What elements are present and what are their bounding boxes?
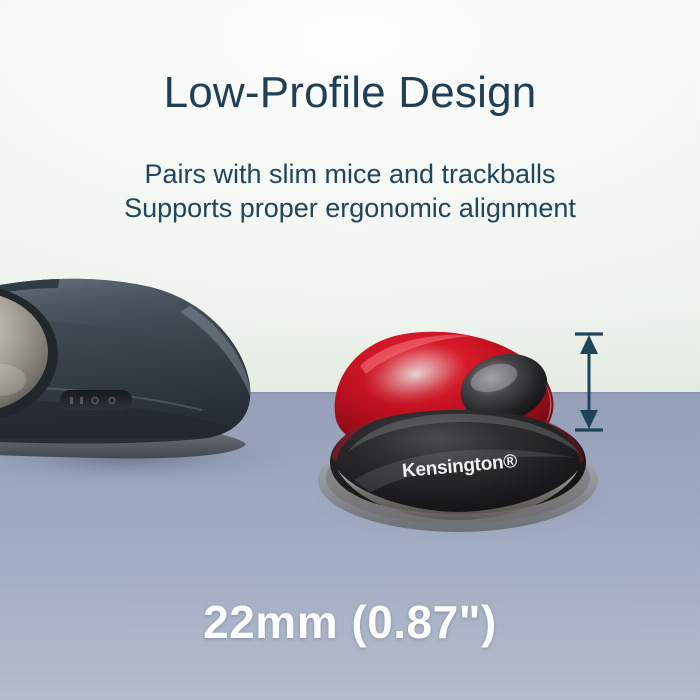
measurement-arrowhead-down [580, 410, 598, 429]
page-title: Low-Profile Design [0, 70, 700, 116]
subtitle-line-2: Supports proper ergonomic alignment [0, 192, 700, 225]
height-measurement-arrow [563, 322, 615, 442]
measurement-arrowhead-up [580, 335, 598, 354]
product-feature-image: Low-Profile Design Pairs with slim mice … [0, 0, 700, 700]
subtitle-line-1: Pairs with slim mice and trackballs [0, 158, 700, 191]
trackball-mouse-image [0, 262, 300, 492]
measurement-label: 22mm (0.87") [0, 595, 700, 649]
